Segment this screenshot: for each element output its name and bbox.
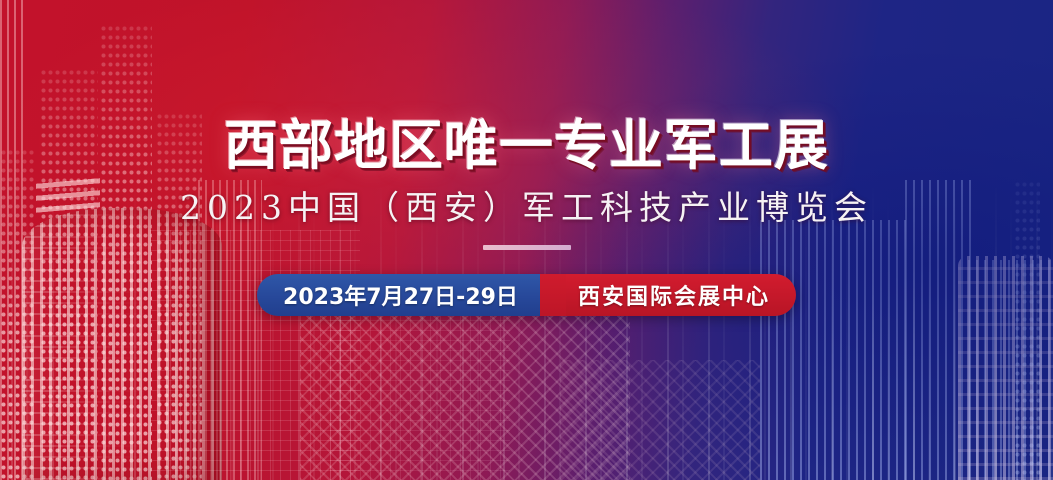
banner-content: 西部地区唯一专业军工展 2023中国（西安）军工科技产业博览会 2023年7月2… [0, 0, 1053, 480]
banner-subheadline: 2023中国（西安）军工科技产业博览会 [180, 191, 873, 224]
event-date-label: 2023年7月27日-29日 [257, 274, 540, 316]
event-info-badge: 2023年7月27日-29日 西安国际会展中心 [257, 274, 796, 316]
badge-divider-slash [540, 274, 566, 316]
banner-headline: 西部地区唯一专业军工展 [224, 119, 829, 173]
title-divider [483, 245, 571, 250]
event-venue-label: 西安国际会展中心 [566, 274, 796, 316]
exhibition-banner: 西部地区唯一专业军工展 2023中国（西安）军工科技产业博览会 2023年7月2… [0, 0, 1053, 480]
